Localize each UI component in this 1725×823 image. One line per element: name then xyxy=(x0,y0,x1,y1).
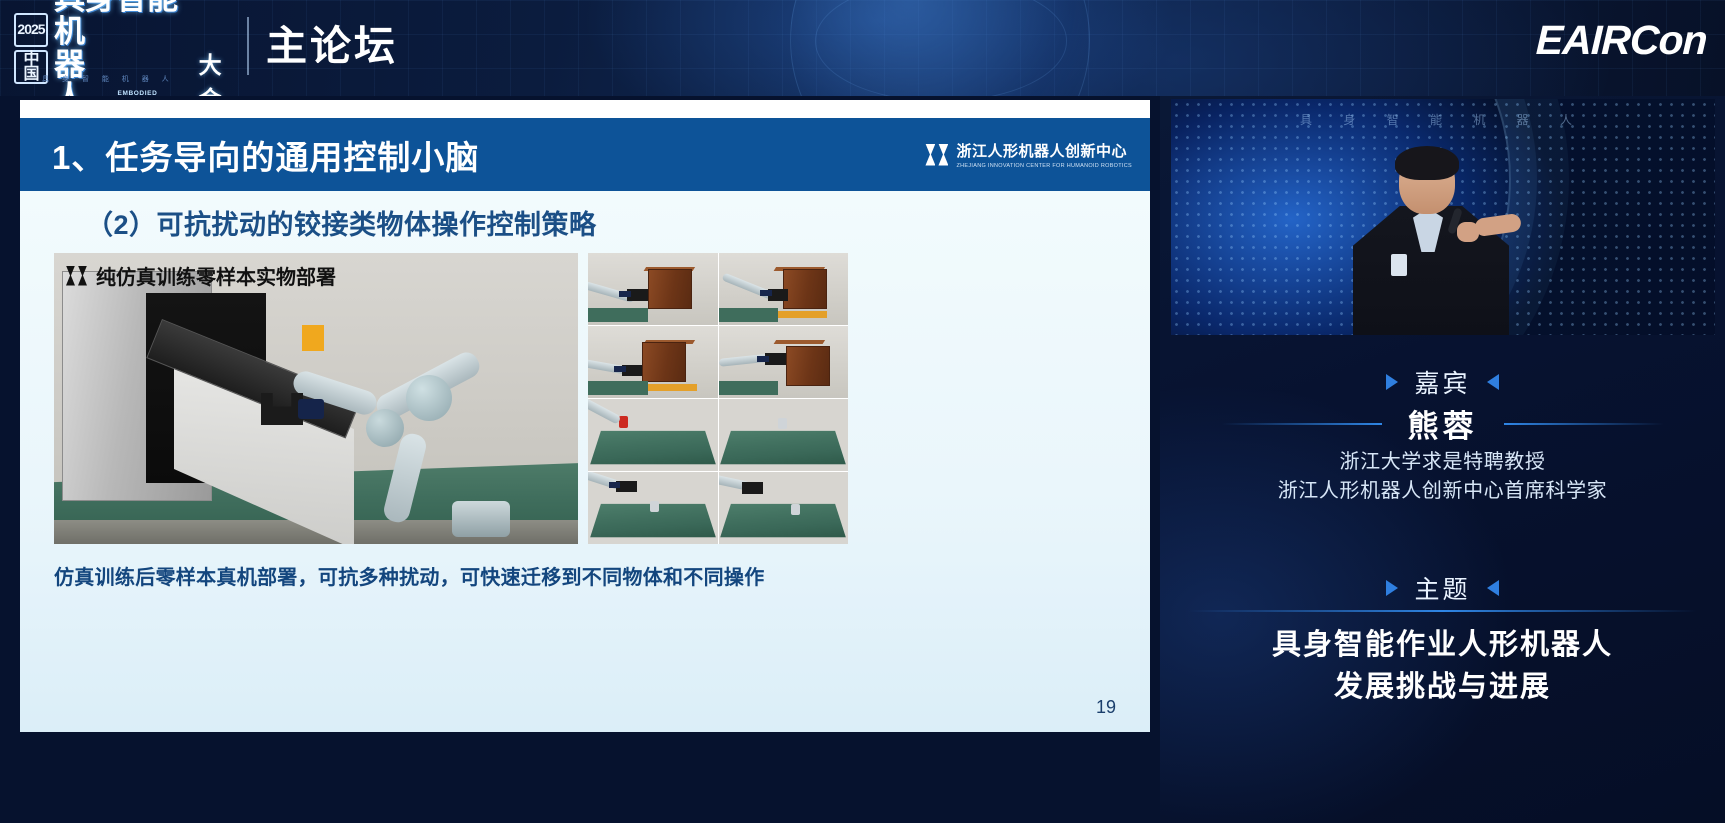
wrist-camera xyxy=(757,356,769,362)
logo-pinyin: 具 身 智 能 机 器 人 xyxy=(42,74,224,84)
triangle-right-icon xyxy=(1386,580,1398,596)
speaker-badge xyxy=(1391,254,1407,276)
organization-logo-text: 浙江人形机器人创新中心 ZHEJIANG INNOVATION CENTER F… xyxy=(956,140,1132,169)
green-mat xyxy=(719,381,779,395)
robot-joint-1 xyxy=(406,375,452,421)
speaker-extended-arm xyxy=(1474,213,1522,237)
speaker-figure xyxy=(1347,150,1515,335)
topic-line: 具身智能作业人形机器人 xyxy=(1160,624,1725,666)
slide-title: 1、任务导向的通用控制小脑 xyxy=(52,131,479,179)
top-banner: 2025 中国 具身智能 机器人 EMBODIED INTELLIGENT RO… xyxy=(0,0,1725,96)
main-demo-video: 纯仿真训练零样本实物部署 xyxy=(54,253,578,544)
speaker-video-feed[interactable]: 具 身 智 能 机 器 人 xyxy=(1171,99,1715,335)
presentation-slide: 1、任务导向的通用控制小脑 浙江人形机器人创新中心 ZHEJIANG INNOV… xyxy=(20,100,1150,732)
topic-section-label: 主题 xyxy=(1414,570,1470,606)
grid-cell xyxy=(588,253,718,325)
robot-wrist-camera xyxy=(298,399,324,419)
silver-can xyxy=(650,501,659,513)
green-mat xyxy=(588,381,648,395)
guest-name: 熊蓉 xyxy=(1382,401,1504,446)
triangle-left-icon xyxy=(1487,580,1499,596)
grid-cell xyxy=(719,399,849,471)
wrist-camera xyxy=(619,291,631,297)
speaker-info-panel: 具 身 智 能 机 器 人 嘉宾 熊蓉 浙江大学求是特聘教授 浙江人形机器人创新… xyxy=(1160,96,1725,823)
triangle-left-icon xyxy=(1487,374,1499,390)
topic-text: 具身智能作业人形机器人 发展挑战与进展 xyxy=(1160,624,1725,708)
organization-name-cn: 浙江人形机器人创新中心 xyxy=(956,140,1132,161)
green-table-surface xyxy=(720,431,846,465)
guest-section-header: 嘉宾 xyxy=(1160,364,1725,400)
robot-joint-2 xyxy=(366,409,404,447)
grid-cell xyxy=(719,472,849,544)
logo-english-subtitle: EMBODIED INTELLIGENT ROBOT xyxy=(118,90,195,97)
robot-arm xyxy=(588,399,621,425)
slide-subheading: （2）可抗扰动的铰接类物体操作控制策略 xyxy=(86,203,597,242)
conference-logo-chips: 2025 中国 xyxy=(14,13,48,84)
organization-logo: 浙江人形机器人创新中心 ZHEJIANG INNOVATION CENTER F… xyxy=(925,140,1132,169)
speaker-video-overlay-text: 具 身 智 能 机 器 人 xyxy=(1171,108,1715,130)
green-mat xyxy=(588,308,648,322)
green-mat xyxy=(719,308,779,322)
zhejiang-mark-icon xyxy=(925,143,949,167)
cabinet xyxy=(786,346,830,386)
eaircon-brand-logo: EAIRCon xyxy=(1536,17,1708,64)
guest-name-row: 熊蓉 xyxy=(1160,401,1725,446)
video-label-text: 纯仿真训练零样本实物部署 xyxy=(96,261,336,290)
slide-caption: 仿真训练后零样本真机部署，可抗多种扰动，可快速迁移到不同物体和不同操作 xyxy=(54,561,765,590)
guest-name-rule-left xyxy=(1222,423,1382,425)
green-table-surface xyxy=(590,431,716,465)
silver-can xyxy=(791,504,800,516)
orange-pad xyxy=(640,384,697,390)
grid-cell xyxy=(719,253,849,325)
grid-cell xyxy=(588,326,718,398)
robot-base xyxy=(452,501,510,537)
grid-cell xyxy=(588,472,718,544)
logo-line-1-row: 具身智能 xyxy=(54,0,228,15)
grid-cell xyxy=(588,399,718,471)
red-can xyxy=(619,416,628,428)
logo-line-2-suffix: 大会 xyxy=(199,46,228,96)
wrist-camera xyxy=(760,290,772,296)
slide-body: （2）可抗扰动的铰接类物体操作控制策略 纯仿真训练零样本实物部署 xyxy=(20,191,1150,732)
wrist-camera xyxy=(609,482,621,488)
guest-titles: 浙江大学求是特聘教授 浙江人形机器人创新中心首席科学家 xyxy=(1160,448,1725,506)
logo-year: 2025 xyxy=(14,13,48,47)
organization-name-en: ZHEJIANG INNOVATION CENTER FOR HUMANOID … xyxy=(956,163,1132,169)
banner-divider xyxy=(247,17,249,75)
video-overlay-label: 纯仿真训练零样本实物部署 xyxy=(54,253,348,298)
forum-title: 主论坛 xyxy=(266,18,398,74)
guest-name-rule-right xyxy=(1504,423,1664,425)
topic-section-header: 主题 xyxy=(1160,570,1725,606)
green-table-surface xyxy=(720,504,846,538)
banner-globe-decoration xyxy=(790,0,1090,96)
cabinet xyxy=(783,269,827,309)
cabinet xyxy=(648,269,692,309)
grid-cell xyxy=(719,326,849,398)
slide-page-number: 19 xyxy=(1096,697,1116,718)
guest-section-label: 嘉宾 xyxy=(1414,364,1470,400)
guest-title-line: 浙江人形机器人创新中心首席科学家 xyxy=(1160,477,1725,506)
speaker-hair xyxy=(1395,146,1459,180)
logo-line-1: 具身智能 xyxy=(54,0,178,15)
demo-video-grid xyxy=(588,253,848,544)
topic-divider xyxy=(1188,610,1697,612)
wrist-camera xyxy=(614,366,626,372)
cabinet-top xyxy=(774,340,825,344)
silver-can xyxy=(778,418,787,430)
cabinet xyxy=(642,342,686,382)
topic-line: 发展挑战与进展 xyxy=(1160,666,1725,708)
video-label-mark-icon xyxy=(66,265,88,287)
scene-yellow-tag xyxy=(302,325,324,351)
robot-gripper xyxy=(742,482,763,494)
orange-pad xyxy=(770,311,827,317)
slide-title-bar: 1、任务导向的通用控制小脑 浙江人形机器人创新中心 ZHEJIANG INNOV… xyxy=(20,118,1150,191)
guest-title-line: 浙江大学求是特聘教授 xyxy=(1160,448,1725,477)
triangle-right-icon xyxy=(1386,374,1398,390)
